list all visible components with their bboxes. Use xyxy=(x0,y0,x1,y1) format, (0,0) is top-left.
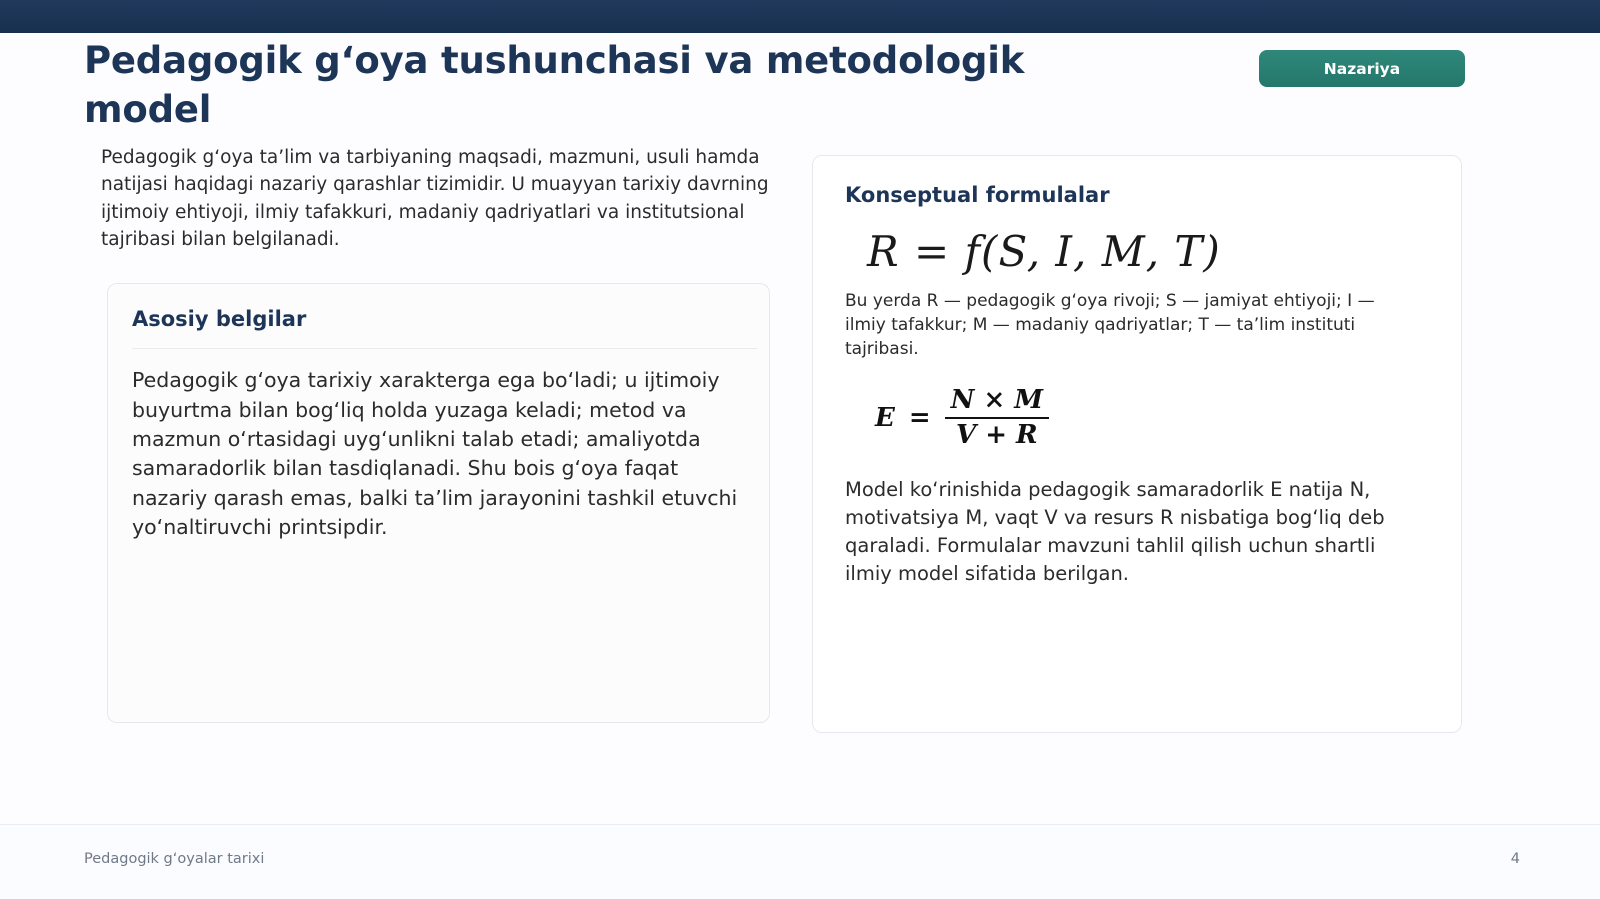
formula-e-equals: = xyxy=(909,403,931,433)
page-title: Pedagogik g‘oya tushunchasi va metodolog… xyxy=(84,36,1084,134)
left-card-heading: Asosiy belgilar xyxy=(130,306,747,333)
status-badge: Nazariya xyxy=(1259,50,1465,87)
formula-e-fraction: N × M V + R xyxy=(945,386,1049,450)
formula-e-lhs: E xyxy=(875,403,895,433)
formula-r-legend: Bu yerda R — pedagogik g‘oya rivoji; S —… xyxy=(845,290,1415,361)
card-konseptual-formulalar: Konseptual formulalar R = f(S, I, M, T) … xyxy=(812,155,1462,733)
formula-e-numerator: N × M xyxy=(945,386,1049,417)
card-asosiy-belgilar: Asosiy belgilar Pedagogik g‘oya tarixiy … xyxy=(107,283,770,723)
left-card-body: Pedagogik g‘oya tarixiy xarakterga ega b… xyxy=(132,366,757,542)
left-card-divider xyxy=(132,348,757,349)
footer-deck-title: Pedagogik g‘oyalar tarixi xyxy=(84,851,264,867)
formula-r-equation: R = f(S, I, M, T) xyxy=(867,227,1431,276)
formula-e-equation: E = N × M V + R xyxy=(875,386,1431,450)
right-card-heading: Konseptual formulalar xyxy=(845,182,1431,209)
intro-paragraph: Pedagogik g‘oya ta’lim va tarbiyaning ma… xyxy=(101,144,779,254)
footer-page-number: 4 xyxy=(1490,851,1520,867)
footer: Pedagogik g‘oyalar tarixi 4 xyxy=(0,824,1600,899)
top-accent-bar xyxy=(0,0,1600,33)
right-card-body: Model ko‘rinishida pedagogik samaradorli… xyxy=(845,476,1420,588)
slide: Pedagogik g‘oya tushunchasi va metodolog… xyxy=(0,0,1600,899)
formula-e-denominator: V + R xyxy=(950,419,1044,450)
status-badge-label: Nazariya xyxy=(1324,60,1400,78)
